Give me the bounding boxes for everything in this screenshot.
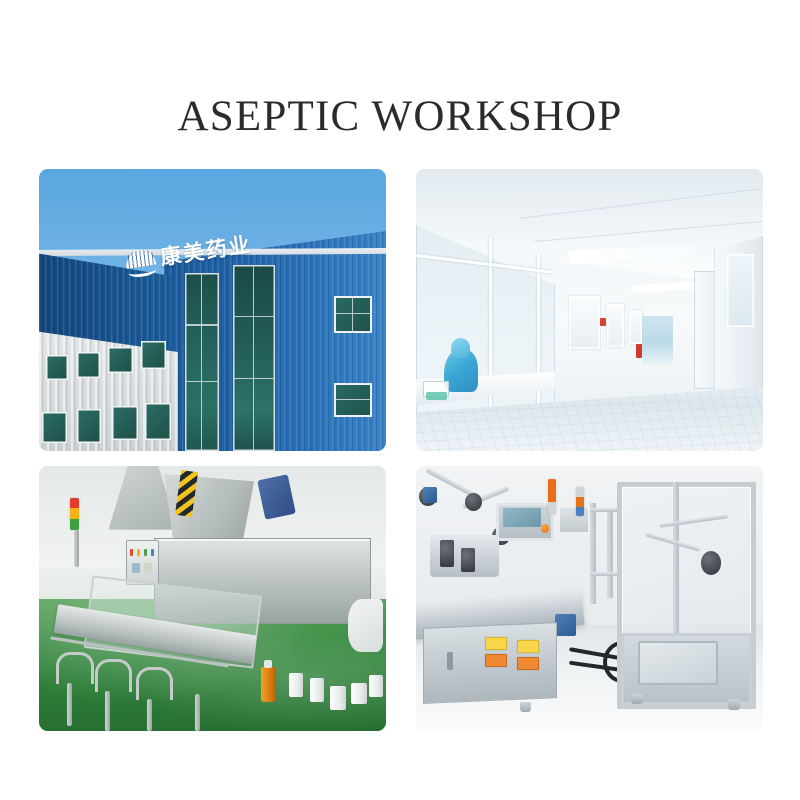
- secondary-control-panel[interactable]: [558, 506, 590, 534]
- white-jar: [310, 678, 324, 702]
- machine-foot: [520, 702, 530, 713]
- white-jar: [289, 673, 303, 697]
- conveyor-guard-arch: [95, 659, 132, 691]
- warning-label: [517, 640, 539, 653]
- signal-tower-light: [548, 479, 556, 513]
- hmi-screen[interactable]: [503, 508, 541, 527]
- frame-post: [607, 508, 613, 598]
- cabinet-handle[interactable]: [447, 652, 453, 671]
- conveyor-guard-arch: [136, 667, 173, 699]
- wall-panel-window: [569, 296, 600, 350]
- indicator-lamp: [144, 563, 152, 573]
- window-small: [42, 412, 66, 443]
- cleanroom-worker-hood: [451, 338, 470, 358]
- window-small: [77, 409, 101, 443]
- warning-label: [485, 654, 507, 667]
- blue-gearbox: [555, 614, 576, 635]
- machine-leg: [147, 699, 152, 731]
- enclosure-access-door[interactable]: [638, 641, 718, 685]
- page-title-bar: ASEPTIC WORKSHOP: [0, 62, 800, 172]
- pneumatic-cylinder: [440, 540, 454, 567]
- window-mullion: [253, 265, 255, 451]
- window-small: [112, 406, 138, 440]
- window-small: [141, 341, 165, 369]
- window-small: [46, 355, 69, 380]
- pneumatic-cylinder: [461, 548, 475, 572]
- indicator-lamp: [151, 549, 154, 556]
- kangmei-fan-logo-icon: [124, 248, 157, 274]
- window-small: [77, 352, 100, 377]
- frame-rail: [590, 572, 621, 576]
- door-viewing-window: [727, 254, 755, 327]
- wall-panel-window: [629, 310, 641, 344]
- machine-leg: [105, 691, 110, 731]
- machine-leg: [67, 683, 72, 725]
- warning-label: [517, 657, 539, 670]
- photo-automation-hall[interactable]: [416, 466, 763, 731]
- window-mullion: [201, 273, 203, 451]
- machine-leg: [195, 694, 200, 731]
- machine-foot: [631, 694, 643, 705]
- photo-factory-exterior[interactable]: 康美药业: [39, 169, 386, 451]
- white-jar: [330, 686, 346, 710]
- indicator-lamp: [137, 549, 140, 556]
- corridor-far-door: [642, 316, 673, 364]
- photo-packaging-line[interactable]: [39, 466, 386, 731]
- photo-cleanroom-corridor[interactable]: [416, 169, 763, 451]
- signal-tower-light: [576, 487, 584, 516]
- indicator-lamp: [144, 549, 147, 556]
- white-jar: [369, 675, 383, 696]
- machine-roller: [701, 551, 722, 575]
- building-signage-text: 康美药业: [159, 234, 253, 268]
- indicator-lamp: [132, 563, 140, 573]
- indicator-lamp: [130, 549, 133, 556]
- control-panel[interactable]: [126, 540, 159, 584]
- window-small: [145, 403, 171, 440]
- fire-extinguisher: [636, 344, 642, 358]
- warning-label: [485, 637, 507, 650]
- photo-grid: 康美药业: [39, 169, 763, 731]
- arm-joint: [465, 493, 482, 512]
- conveyor-guard-arch: [56, 652, 93, 684]
- signal-tower-light: [70, 498, 79, 530]
- amber-bottle: [261, 667, 276, 701]
- blue-servo-drive: [423, 487, 437, 503]
- emergency-sign: [600, 318, 606, 325]
- tower-pole: [74, 530, 79, 567]
- window-mullion: [352, 296, 354, 333]
- frame-rail: [590, 508, 621, 512]
- frame-post: [590, 503, 596, 604]
- wall-panel-window: [607, 304, 624, 346]
- page-root: ASEPTIC WORKSHOP: [0, 0, 800, 800]
- window-mullion: [334, 399, 372, 401]
- green-bin: [426, 392, 447, 400]
- enclosure-post: [673, 482, 679, 636]
- white-jar: [351, 683, 367, 704]
- operator-gloved-hand: [348, 599, 383, 652]
- page-title: ASEPTIC WORKSHOP: [178, 91, 623, 143]
- window-small: [108, 347, 132, 374]
- machine-foot: [728, 699, 740, 710]
- ceiling-light-strip-far: [631, 282, 693, 293]
